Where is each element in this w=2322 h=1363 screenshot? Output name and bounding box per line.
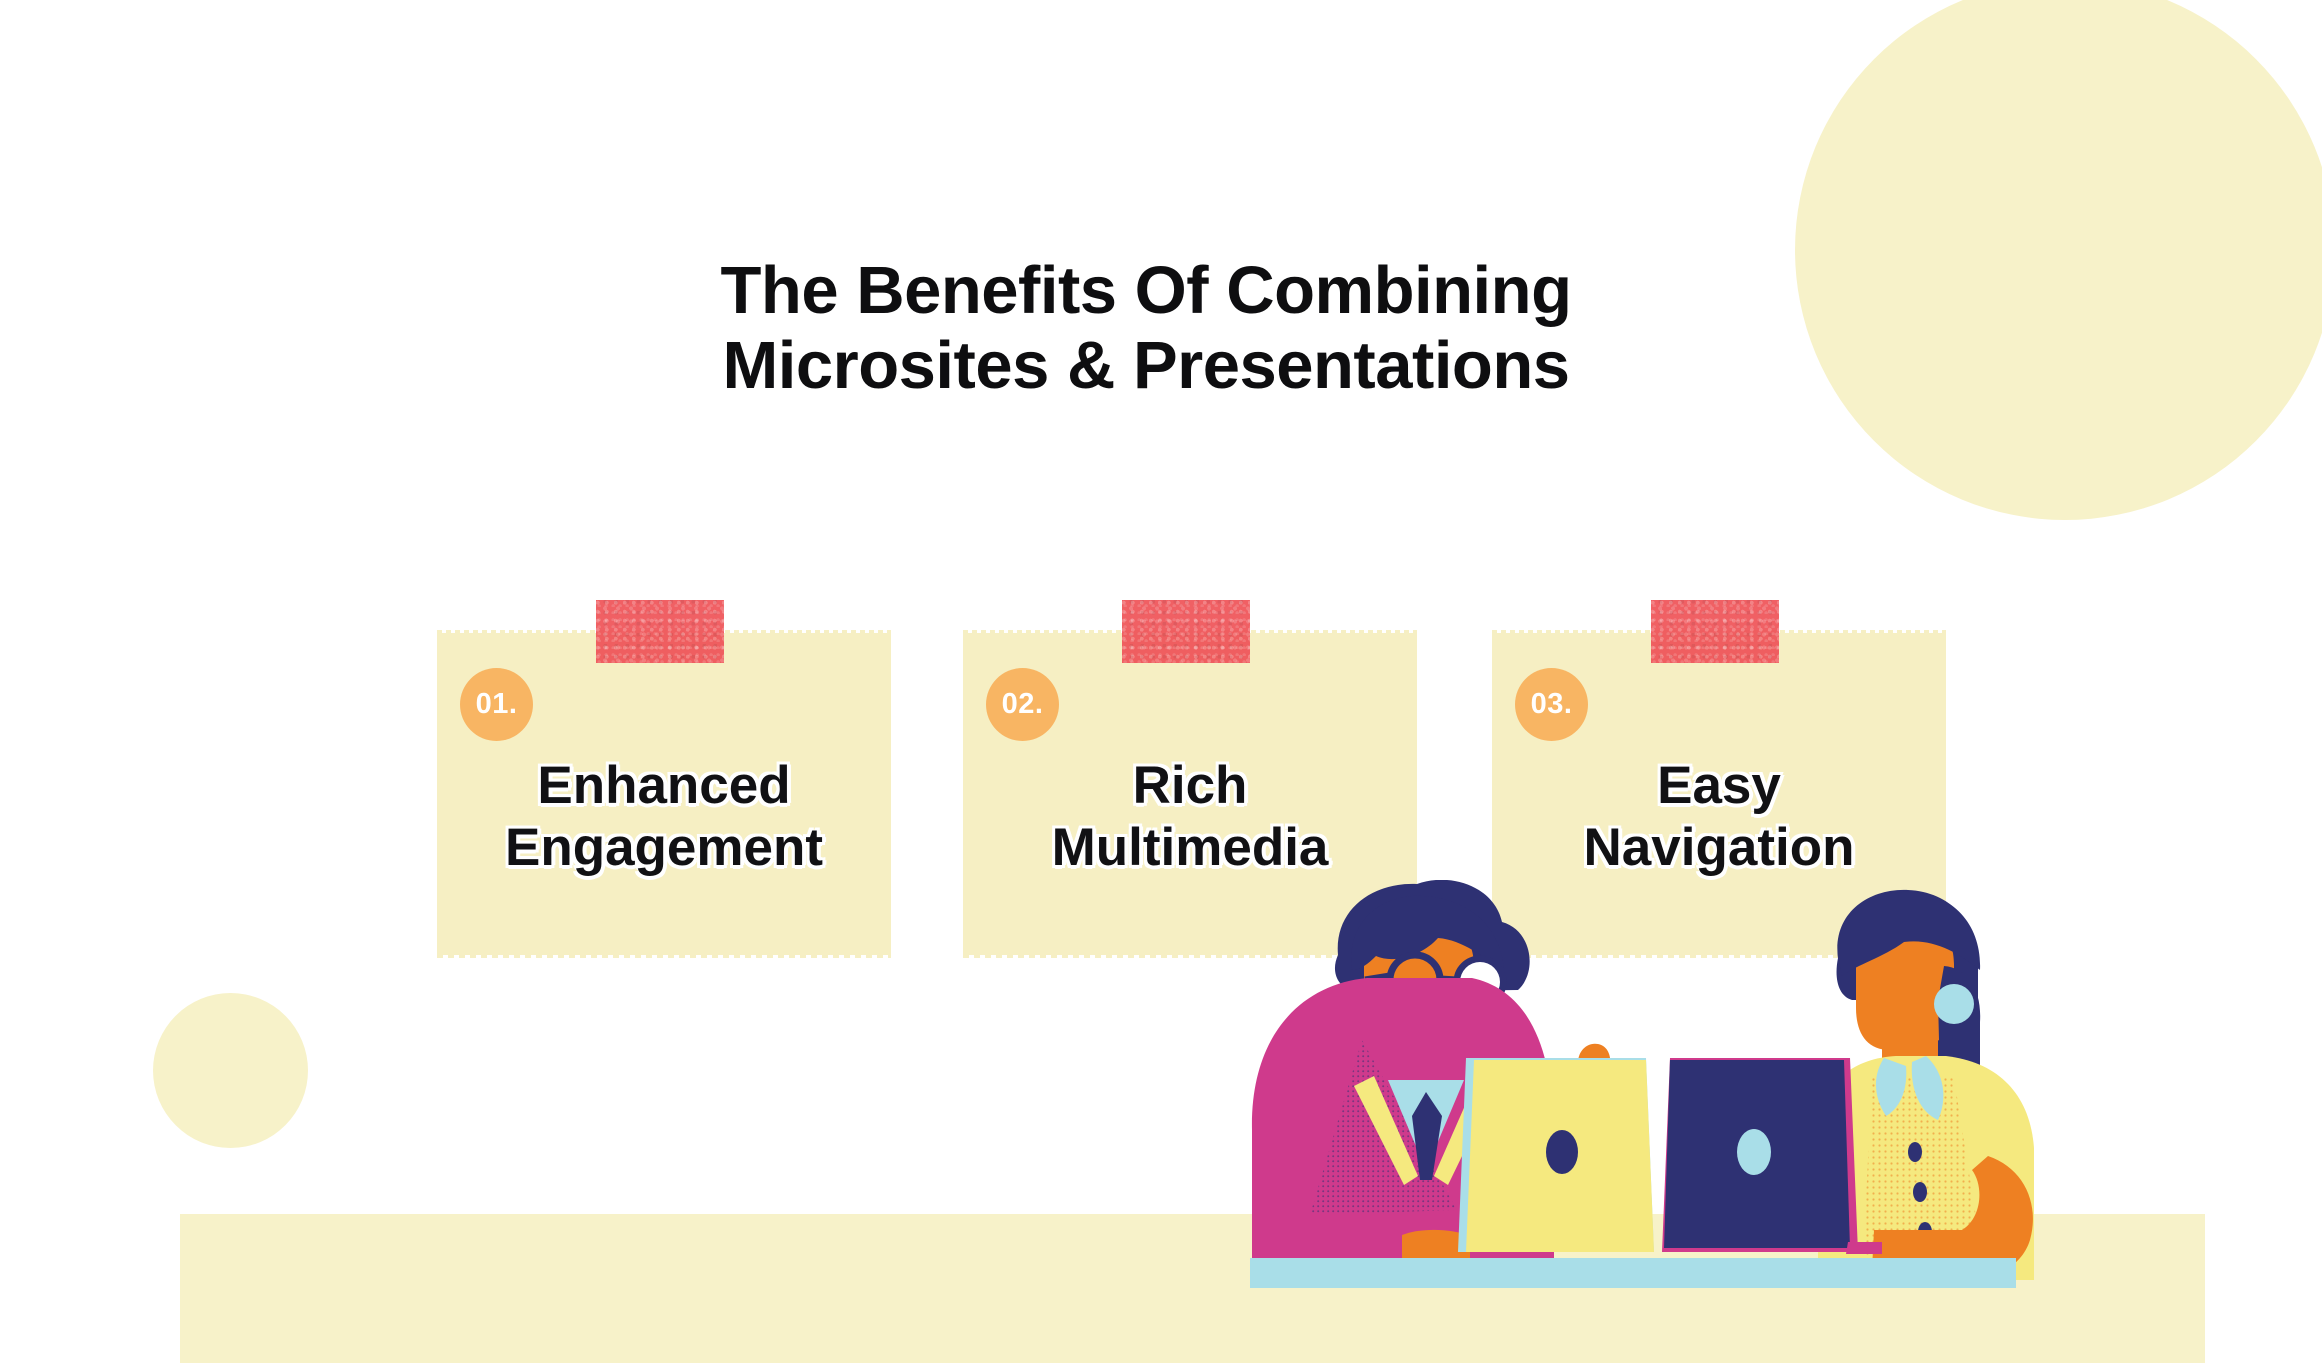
desk-surface xyxy=(1250,1258,2016,1288)
laptop-yellow xyxy=(1458,1058,1654,1252)
card-number-badge: 01. xyxy=(460,668,533,741)
laptop-yellow-logo-icon xyxy=(1546,1130,1578,1174)
card-number-badge: 02. xyxy=(986,668,1059,741)
benefit-card-1[interactable]: 01. Enhanced Engagement xyxy=(437,633,891,955)
red-tape-icon xyxy=(1122,600,1250,663)
pale-yellow-circle-small-icon xyxy=(153,993,308,1148)
card-number-badge: 03. xyxy=(1515,668,1588,741)
laptop-navy-logo-icon xyxy=(1737,1129,1771,1175)
card-title: Enhanced Engagement xyxy=(437,755,891,879)
pale-yellow-circle-icon xyxy=(1795,0,2322,520)
earring-icon xyxy=(1934,984,1974,1024)
slide-canvas: The Benefits Of Combining Microsites & P… xyxy=(0,0,2322,1363)
red-tape-icon xyxy=(596,600,724,663)
card-title: Easy Navigation xyxy=(1492,755,1946,879)
card-title: Rich Multimedia xyxy=(963,755,1417,879)
blouse-button xyxy=(1908,1142,1922,1162)
laptop-navy-base xyxy=(1846,1242,1882,1254)
illustration-svg xyxy=(1242,880,2072,1300)
laptop-navy xyxy=(1662,1058,1882,1254)
people-illustration xyxy=(1242,880,2072,1300)
blouse-button xyxy=(1913,1182,1927,1202)
page-title: The Benefits Of Combining Microsites & P… xyxy=(636,253,1656,403)
red-tape-icon xyxy=(1651,600,1779,663)
